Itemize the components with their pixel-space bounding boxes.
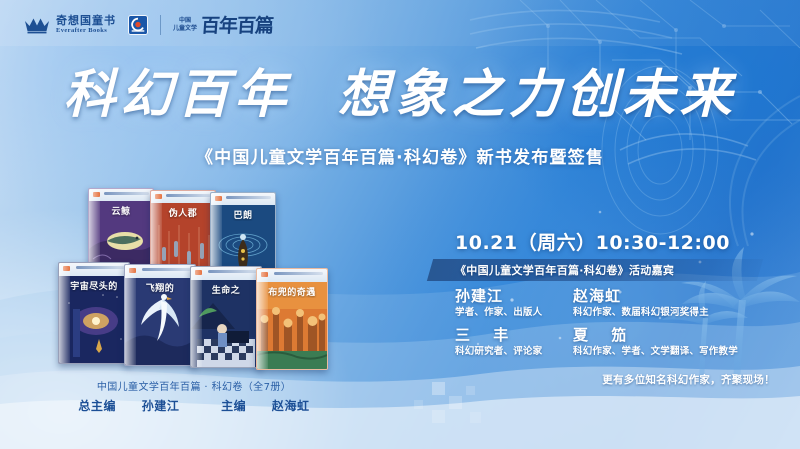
guest-role: 科幻作家、数届科幻银河奖得主 [573, 306, 709, 320]
guest-card[interactable]: 孙建江 学者、作家、出版人 [455, 287, 573, 320]
book-cover[interactable]: 布兜的奇遇 [256, 268, 328, 370]
guest-role: 学者、作家、出版人 [455, 306, 573, 320]
series-label-top: 中国 [173, 17, 197, 25]
more-guests-note: 更有多位知名科幻作家，齐聚现场！ [455, 372, 775, 387]
book-cover[interactable]: 飞翔的 [124, 264, 196, 366]
editor-credits: 总主编 孙建江 主编 赵海虹 [64, 396, 324, 418]
page-title: 科幻百年 想象之力创未来 [0, 66, 800, 126]
book-cover-stack: 云鲸 [58, 188, 328, 368]
guest-name: 夏 笳 [573, 326, 738, 345]
logo-series-badge[interactable]: 中国 儿童文学 百年百篇 [173, 11, 273, 38]
editor-in-chief-name: 孙建江 [142, 399, 180, 413]
editor-in-chief-label: 总主编 [78, 399, 116, 413]
guest-role: 科幻作家、学者、文学翻译、写作教学 [573, 345, 738, 359]
logo-label-cn: 奇想国童书 [56, 15, 116, 27]
cover-spine [191, 267, 202, 367]
logo-label-en: Everafter Books [56, 27, 116, 34]
pixel-blocks [414, 382, 481, 423]
guest-list: 孙建江 学者、作家、出版人 赵海虹 科幻作家、数届科幻银河奖得主 三 丰 科幻研… [455, 287, 775, 365]
crown-icon [24, 16, 50, 34]
guest-name: 赵海虹 [573, 287, 709, 306]
logo-row: 奇想国童书 Everafter Books 中国 儿童文学 百年百篇 [24, 11, 273, 38]
book-set-label: 中国儿童文学百年百篇 · 科幻卷（全7册） [64, 380, 324, 396]
promo-poster: 奇想国童书 Everafter Books 中国 儿童文学 百年百篇 科幻百年 … [0, 0, 800, 449]
guest-card[interactable]: 夏 笳 科幻作家、学者、文学翻译、写作教学 [573, 326, 738, 359]
guest-card[interactable]: 赵海虹 科幻作家、数届科幻银河奖得主 [573, 287, 709, 320]
guest-row: 孙建江 学者、作家、出版人 赵海虹 科幻作家、数届科幻银河奖得主 [455, 287, 775, 320]
book-cover[interactable]: 宇宙尽头的 [58, 262, 130, 364]
book-set-credits: 中国儿童文学百年百篇 · 科幻卷（全7册） 总主编 孙建江 主编 赵海虹 [64, 380, 324, 418]
editor-label: 主编 [221, 399, 246, 413]
publisher-seal-badge[interactable] [128, 15, 148, 35]
book-cover[interactable]: 生命之 [190, 266, 262, 368]
cover-spine [125, 265, 136, 365]
page-subtitle: 《中国儿童文学百年百篇·科幻卷》新书发布暨签售 [0, 143, 800, 168]
guest-role: 科幻研究者、评论家 [455, 345, 573, 359]
guest-name: 三 丰 [455, 326, 573, 345]
logo-divider [160, 15, 161, 35]
series-title: 百年百篇 [200, 11, 274, 38]
cover-spine [257, 269, 268, 369]
guest-row: 三 丰 科幻研究者、评论家 夏 笳 科幻作家、学者、文学翻译、写作教学 [455, 326, 775, 359]
series-label-bottom: 儿童文学 [173, 25, 197, 33]
cover-spine [59, 263, 70, 363]
guest-banner-label: 《中国儿童文学百年百篇·科幻卷》活动嘉宾 [455, 262, 674, 278]
editor-name: 赵海虹 [272, 399, 310, 413]
logo-everafter-books[interactable]: 奇想国童书 Everafter Books [24, 15, 116, 34]
event-datetime: 10.21（周六）10:30-12:00 [455, 228, 730, 255]
guest-card[interactable]: 三 丰 科幻研究者、评论家 [455, 326, 573, 359]
publisher-seal-icon [129, 16, 147, 34]
guest-name: 孙建江 [455, 287, 573, 306]
